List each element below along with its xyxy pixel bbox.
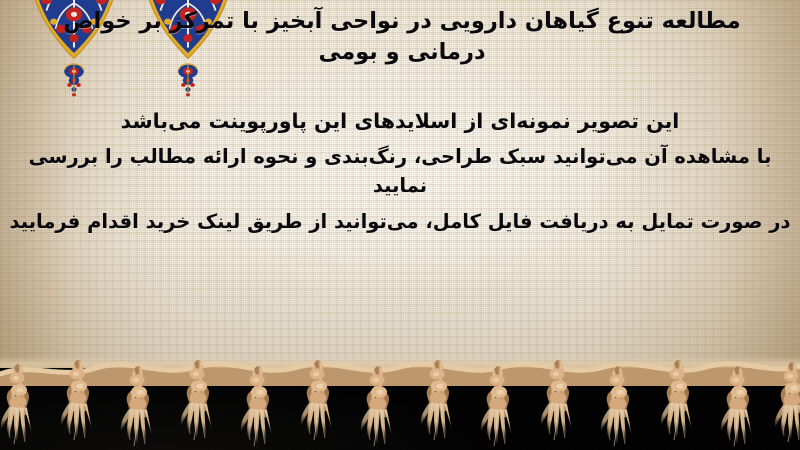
- page-title-line-1: مطالعه تنوع گیاهان دارویی در نواحی آبخیز…: [63, 8, 740, 34]
- body-line-1: این تصویر نمونه‌ای از اسلایدهای این پاور…: [8, 106, 792, 136]
- page-title-line-2: درمانی و بومی: [12, 37, 792, 68]
- carpet-tassel-row: [0, 340, 800, 450]
- slide-canvas: مطالعه تنوع گیاهان دارویی در نواحی آبخیز…: [0, 0, 800, 450]
- body-line-3: در صورت تمایل به دریافت فایل کامل، می‌تو…: [8, 208, 792, 237]
- body-line-2: با مشاهده آن می‌توانید سبک طراحی، رنگ‌بن…: [8, 143, 792, 201]
- carpet-fringe: [0, 340, 800, 450]
- slide-body: این تصویر نمونه‌ای از اسلایدهای این پاور…: [8, 106, 792, 244]
- page-title: مطالعه تنوع گیاهان دارویی در نواحی آبخیز…: [12, 6, 792, 68]
